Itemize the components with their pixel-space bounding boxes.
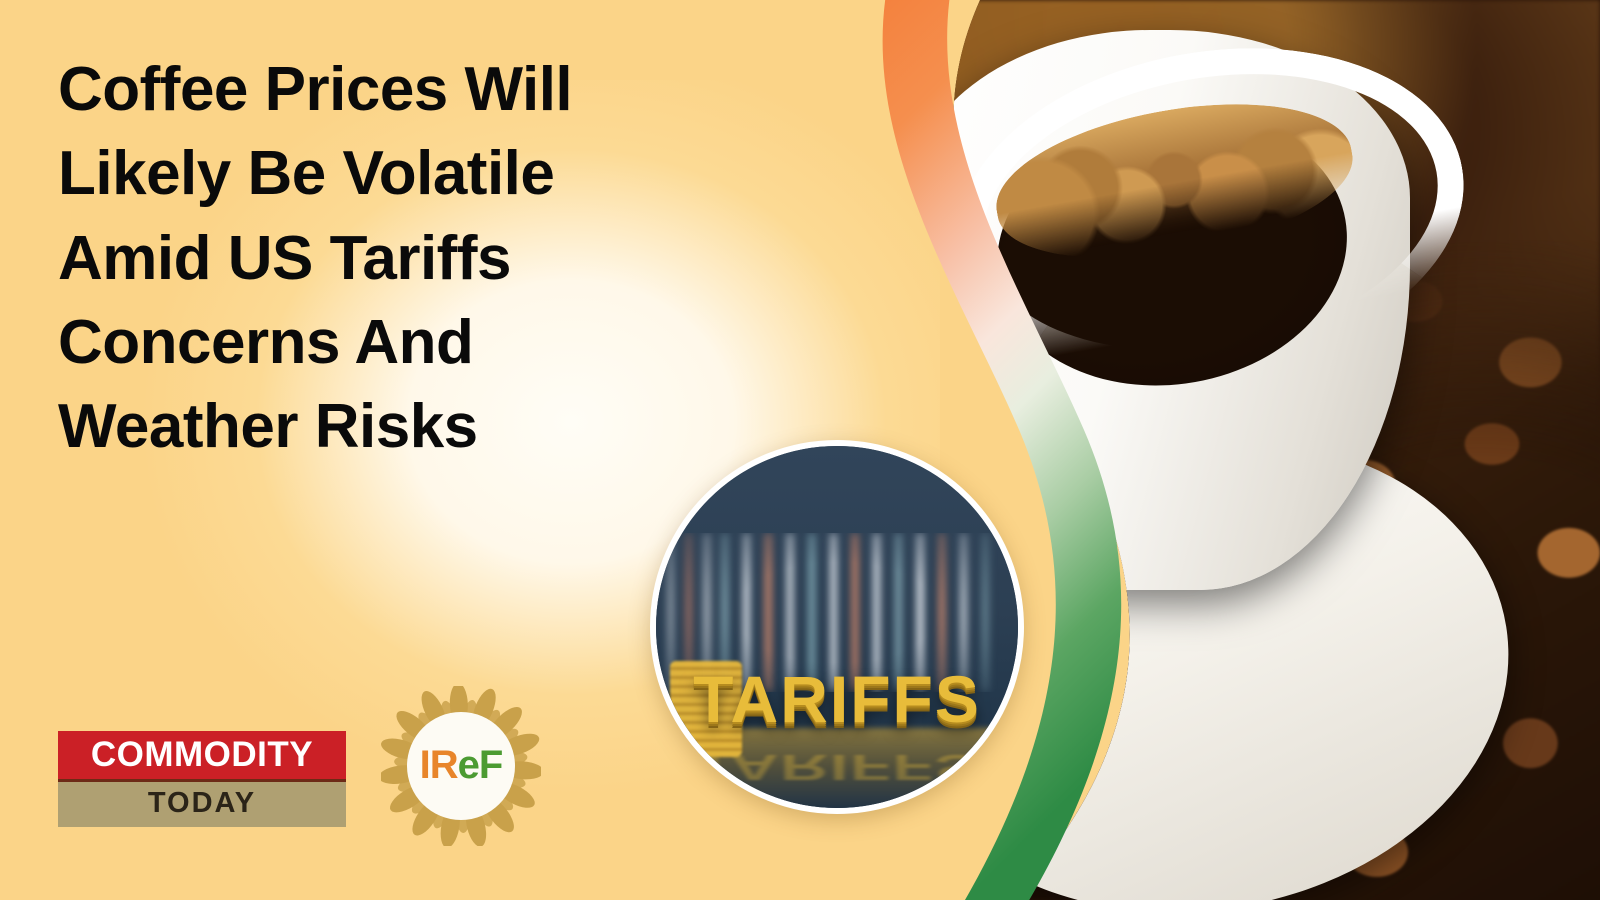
- commodity-banner: COMMODITY: [58, 731, 346, 782]
- headline-line-4: Concerns And: [58, 301, 698, 385]
- today-label: TODAY: [68, 789, 336, 818]
- article-banner: Coffee Prices Will Likely Be Volatile Am…: [0, 0, 1600, 900]
- iref-letters-orange: IR: [420, 743, 458, 787]
- headline-line-2: Likely Be Volatile: [58, 132, 698, 216]
- commodity-label: COMMODITY: [68, 737, 336, 772]
- iref-letters-green: eF: [458, 743, 503, 787]
- headline-line-1: Coffee Prices Will: [58, 48, 698, 132]
- tariffs-word: TARIFFS: [693, 661, 981, 737]
- tariffs-word-reflection: TARIFFS: [693, 747, 981, 789]
- headline-line-3: Amid US Tariffs: [58, 217, 698, 301]
- commodity-today-logo[interactable]: COMMODITY TODAY: [58, 731, 346, 827]
- today-banner: TODAY: [58, 782, 346, 827]
- iref-logo[interactable]: IReF: [381, 686, 541, 846]
- page-title: Coffee Prices Will Likely Be Volatile Am…: [58, 48, 698, 470]
- headline-line-5: Weather Risks: [58, 385, 698, 469]
- tariffs-graphic: TARIFFS TARIFFS: [650, 440, 1024, 814]
- iref-wordmark: IReF: [381, 745, 541, 785]
